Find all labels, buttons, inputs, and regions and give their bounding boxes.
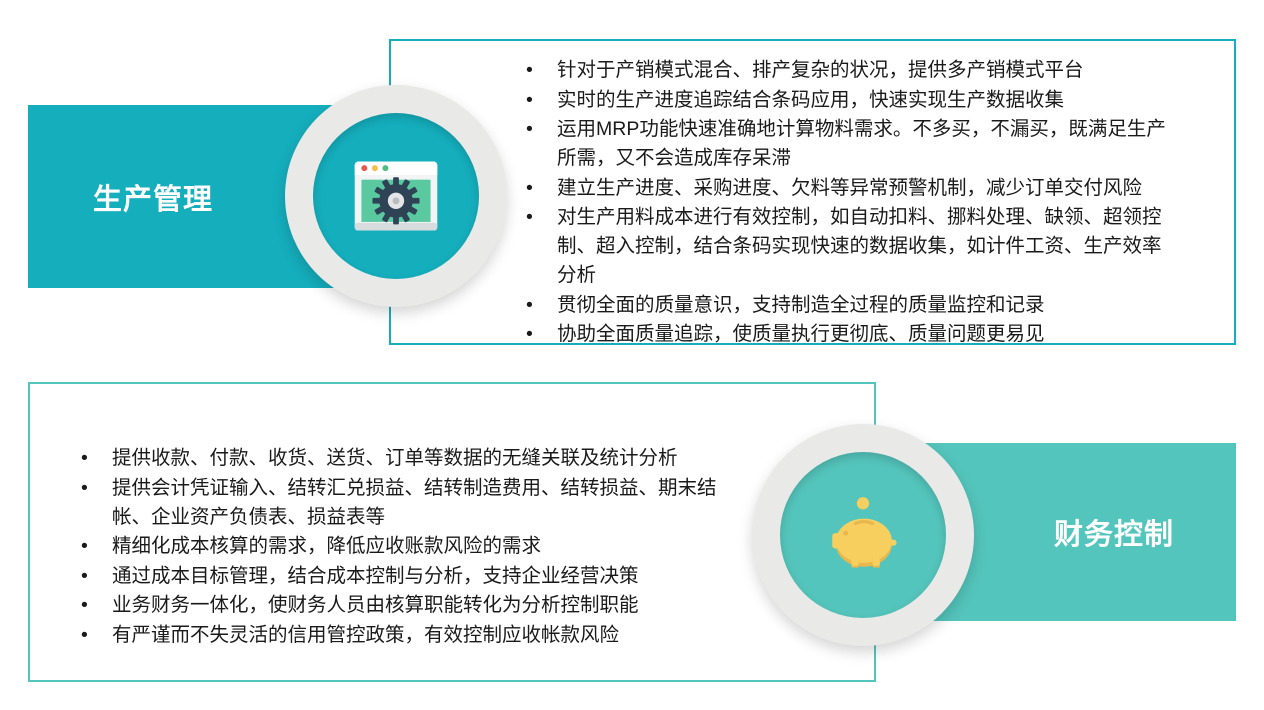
list-item: •业务财务一体化，使财务人员由核算职能转化为分析控制职能 — [75, 591, 735, 620]
production-bullet-list: •针对于产销模式混合、排产复杂的状况，提供多产销模式平台 •实时的生产进度追踪结… — [520, 56, 1180, 350]
list-item: •运用MRP功能快速准确地计算物料需求。不多买，不漏买，既满足生产所需，又不会造… — [520, 115, 1180, 173]
list-item: •贯彻全面的质量意识，支持制造全过程的质量监控和记录 — [520, 291, 1180, 320]
list-item: •提供会计凭证输入、结转汇兑损益、结转制造费用、结转损益、期末结帐、企业资产负债… — [75, 474, 735, 532]
list-item: •建立生产进度、采购进度、欠料等异常预警机制，减少订单交付风险 — [520, 174, 1180, 203]
list-item-text: 运用MRP功能快速准确地计算物料需求。不多买，不漏买，既满足生产所需，又不会造成… — [557, 118, 1166, 169]
bullet-marker: • — [81, 591, 88, 620]
list-item: •针对于产销模式混合、排产复杂的状况，提供多产销模式平台 — [520, 56, 1180, 85]
finance-label-text: 财务控制 — [1054, 511, 1174, 553]
piggy-bank-icon — [815, 487, 911, 583]
bullet-marker: • — [81, 621, 88, 650]
bullet-marker: • — [81, 562, 88, 591]
list-item-text: 提供会计凭证输入、结转汇兑损益、结转制造费用、结转损益、期末结帐、企业资产负债表… — [112, 477, 717, 528]
list-item-text: 建立生产进度、采购进度、欠料等异常预警机制，减少订单交付风险 — [557, 177, 1142, 199]
list-item: •实时的生产进度追踪结合条码应用，快速实现生产数据收集 — [520, 86, 1180, 115]
list-item: •协助全面质量追踪，使质量执行更彻底、质量问题更易见 — [520, 320, 1180, 349]
production-label-text: 生产管理 — [93, 176, 213, 218]
production-icon-disc — [313, 113, 479, 279]
bullet-marker: • — [81, 444, 88, 473]
finance-bullet-list: •提供收款、付款、收货、送货、订单等数据的无缝关联及统计分析 •提供会计凭证输入… — [75, 444, 735, 650]
bullet-marker: • — [81, 532, 88, 561]
list-item-text: 通过成本目标管理，结合成本控制与分析，支持企业经营决策 — [112, 565, 639, 587]
list-item-text: 实时的生产进度追踪结合条码应用，快速实现生产数据收集 — [557, 89, 1064, 111]
bullet-marker: • — [526, 115, 533, 144]
list-item-text: 对生产用料成本进行有效控制，如自动扣料、挪料处理、缺领、超领控制、超入控制，结合… — [557, 206, 1162, 286]
list-item-text: 精细化成本核算的需求，降低应收账款风险的需求 — [112, 535, 541, 557]
bullet-marker: • — [526, 174, 533, 203]
bullet-marker: • — [526, 320, 533, 349]
bullet-marker: • — [526, 86, 533, 115]
list-item: •提供收款、付款、收货、送货、订单等数据的无缝关联及统计分析 — [75, 444, 735, 473]
finance-icon-badge[interactable] — [752, 424, 974, 646]
bullet-marker: • — [526, 56, 533, 85]
list-item-text: 协助全面质量追踪，使质量执行更彻底、质量问题更易见 — [557, 323, 1045, 345]
list-item: •精细化成本核算的需求，降低应收账款风险的需求 — [75, 532, 735, 561]
list-item-text: 针对于产销模式混合、排产复杂的状况，提供多产销模式平台 — [557, 59, 1084, 81]
list-item: •有严谨而不失灵活的信用管控政策，有效控制应收帐款风险 — [75, 621, 735, 650]
list-item-text: 业务财务一体化，使财务人员由核算职能转化为分析控制职能 — [112, 594, 639, 616]
list-item-text: 有严谨而不失灵活的信用管控政策，有效控制应收帐款风险 — [112, 624, 619, 646]
production-icon-badge[interactable] — [285, 85, 507, 307]
finance-icon-disc — [780, 452, 946, 618]
list-item-text: 提供收款、付款、收货、送货、订单等数据的无缝关联及统计分析 — [112, 447, 678, 469]
bullet-marker: • — [526, 203, 533, 232]
list-item: •通过成本目标管理，结合成本控制与分析，支持企业经营决策 — [75, 562, 735, 591]
window-gear-icon — [348, 148, 444, 244]
bullet-marker: • — [81, 474, 88, 503]
slide-canvas: 生产管理 — [0, 0, 1264, 710]
list-item: •对生产用料成本进行有效控制，如自动扣料、挪料处理、缺领、超领控制、超入控制，结… — [520, 203, 1180, 290]
bullet-marker: • — [526, 291, 533, 320]
list-item-text: 贯彻全面的质量意识，支持制造全过程的质量监控和记录 — [557, 294, 1045, 316]
